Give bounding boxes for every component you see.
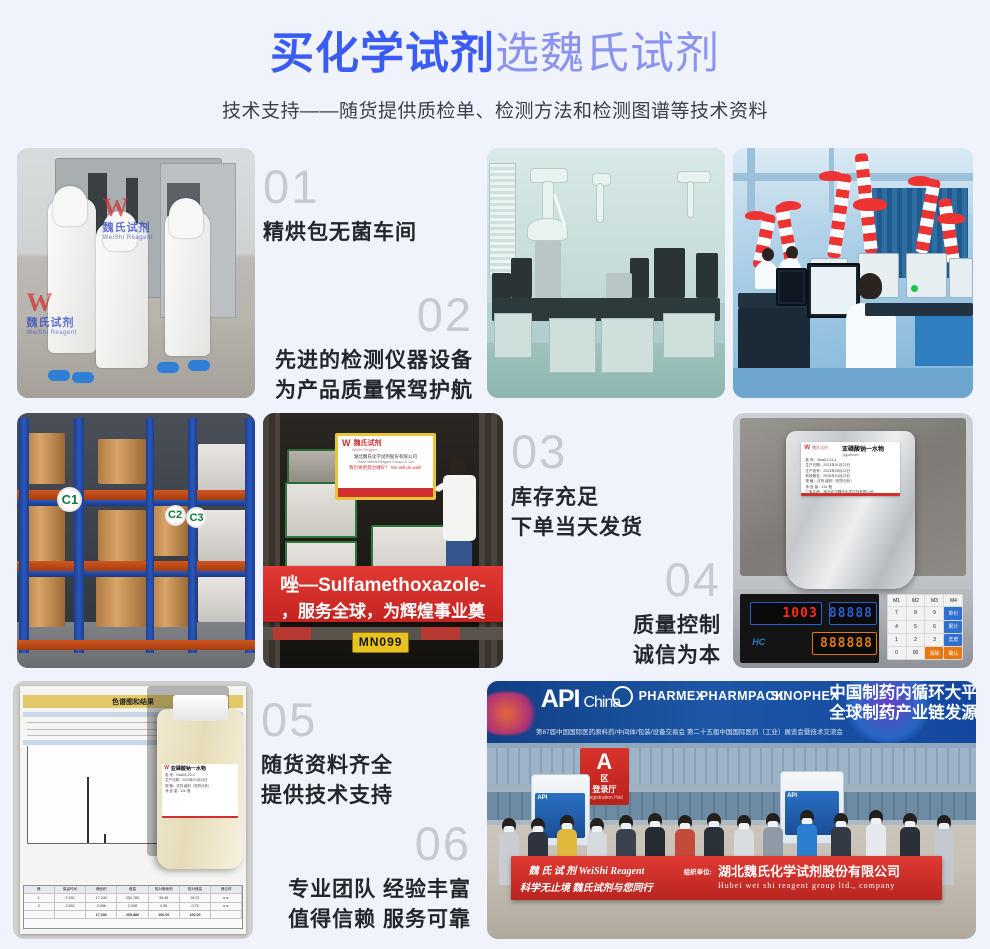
table-row: 峰保留时间峰面积峰高相对峰面积相对峰高峰名称 (24, 886, 243, 894)
photo-lab-teal (487, 148, 725, 398)
photo-exhibition: APIChina PHARMEX PHARMPACK SINOPHEX 中国制药… (487, 681, 976, 939)
red-banner-left-2: 科学无止境 魏氏试剂与您同行 (520, 879, 653, 894)
feature-03-text: 库存充足 下单当天发货 (511, 483, 721, 544)
company-sign: W 魏氏试剂 WeiShi Reagent 湖北魏氏化学试剂股份有限公司 Hub… (335, 433, 436, 499)
label-logo-icon: W (804, 445, 810, 451)
sign-slogan: 我们将更努力做好！ We will do well! (338, 465, 433, 471)
photo-chromatogram: 色谱图和结果 峰保留时间峰面积峰高相对峰面积相对峰高峰名称 1 2.292 (13, 681, 253, 939)
feature-02: 02 先进的检测仪器设备 为产品质量保驾护航 (263, 291, 473, 407)
sample-bottle: W 亚磷酸钠一水物 批 号：Swa01-23-4 生产日期：2023年01月23… (157, 709, 243, 869)
api-logo: APIChina (541, 685, 621, 714)
promo-page: 买化学试剂选魏氏试剂 技术支持——随货提供质检单、检测方法和检测图谱等技术资料 (0, 0, 990, 949)
photo-lab-blue (733, 148, 973, 398)
bottle-logo-icon: W (164, 765, 169, 771)
photo-warehouse: C1 C2 C3 (17, 413, 255, 668)
feature-01-number: 01 (263, 163, 473, 210)
scale-unit-price-display: 88888 (829, 602, 877, 625)
banner-subline: 第87届中国国际医药原料药/中间体/包装/设备交易会 第二十五届中国国际医药（工… (536, 726, 843, 736)
red-banner-right-1: 湖北魏氏化学试剂股份有限公司 (718, 861, 900, 880)
feature-03-number: 03 (511, 428, 721, 475)
feature-02-text: 先进的检测仪器设备 为产品质量保驾护航 (263, 346, 473, 407)
feature-04-number: 04 (511, 556, 721, 603)
banner-slogan: 中国制药内循环大平台 全球制药产业链发源地 (829, 684, 976, 723)
label-rows: 批 号：Swa01-23-4 生产日期：2023年01月23日 生产批号：202… (801, 457, 899, 496)
hall-sign-letter: A (580, 751, 629, 773)
scale-weight-display: 1003 (750, 602, 822, 625)
sign-logo-icon: W (342, 438, 351, 448)
bottle-product: 亚磷酸钠一水物 (171, 765, 206, 772)
label-product: 亚磷酸钠一水物 (842, 444, 884, 453)
banner-line-1: 唑—Sulfamethoxazole- (263, 570, 503, 597)
sign-company-en: Hubei Weishi Reagent Group Co.,Ltd (338, 460, 433, 464)
feature-06: 06 专业团队 经验丰富 值得信赖 服务可靠 (261, 820, 471, 936)
truck-red-banner: 唑—Sulfamethoxazole- ，服务全球，为辉煌事业奠 (263, 566, 503, 622)
feature-05: 05 随货资料齐全 提供技术支持 (261, 696, 471, 812)
feature-05-text: 随货资料齐全 提供技术支持 (261, 751, 471, 812)
team-red-banner: 魏 氏 试 剂 WeiShi Reagent 科学无止境 魏氏试剂与您同行 组织… (511, 856, 941, 900)
red-banner-left-1: 魏 氏 试 剂 WeiShi Reagent (529, 862, 645, 877)
feature-04-text: 质量控制 诚信为本 (511, 611, 721, 672)
label-brand: 魏氏试剂 (812, 445, 828, 451)
feature-05-number: 05 (261, 696, 471, 743)
feature-01: 01 精烘包无菌车间 (263, 163, 473, 248)
feature-02-number: 02 (263, 291, 473, 338)
feature-grid: W 魏氏试剂 WeiShi Reagent W 魏氏试剂 WeiShi Reag… (0, 0, 990, 949)
scale-keypad[interactable]: M1M2M3M4 789单价 456累计 123去皮 000清除确认 (887, 594, 964, 660)
brand-pharmex: PHARMEX (639, 689, 705, 703)
red-banner-prefix: 组织单位: (684, 866, 712, 876)
feature-04: 04 质量控制 诚信为本 (511, 556, 721, 672)
product-label: W 魏氏试剂 亚磷酸钠一水物 [a]pancom 批 号：Swa01-23-4 … (801, 442, 899, 496)
result-table: 峰保留时间峰面积峰高相对峰面积相对峰高峰名称 1 2.292 17.240 25… (23, 885, 244, 929)
table-row: 1 2.292 17.240 252.780 99.45 99.21 n.a. (24, 894, 243, 902)
photo-weighing-scale: W 魏氏试剂 亚磷酸钠一水物 [a]pancom 批 号：Swa01-23-4 … (733, 413, 973, 668)
photo-cleanroom: W 魏氏试剂 WeiShi Reagent W 魏氏试剂 WeiShi Reag… (17, 148, 255, 398)
scale-brand-icon: HC (752, 637, 765, 647)
sign-brand: 魏氏试剂 (354, 438, 382, 448)
feature-06-text: 专业团队 经验丰富 值得信赖 服务可靠 (261, 875, 471, 936)
globe-icon (612, 686, 633, 707)
aisle-sign-c2: C2 (165, 505, 186, 526)
photo-truck-loading: W 魏氏试剂 WeiShi Reagent 湖北魏氏化学试剂股份有限公司 Hub… (263, 413, 503, 668)
feature-06-number: 06 (261, 820, 471, 867)
table-row: 2 2.632 0.096 2.098 0.55 0.79 n.a. (24, 903, 243, 911)
license-plate: MN099 (352, 632, 410, 652)
table-row: 17.336 265.880 100.00 100.00 (24, 911, 243, 919)
exhibition-banner: APIChina PHARMEX PHARMPACK SINOPHEX 中国制药… (487, 681, 976, 743)
sign-brand-en: WeiShi Reagent (338, 448, 433, 452)
banner-line-2: ，服务全球，为辉煌事业奠 (263, 597, 503, 622)
feature-03: 03 库存充足 下单当天发货 (511, 428, 721, 544)
feature-01-text: 精烘包无菌车间 (263, 218, 473, 248)
scale-total-display: 888888 (812, 632, 877, 655)
red-banner-right-2: Hubei wei shi reagent group ltd., compan… (718, 881, 895, 890)
